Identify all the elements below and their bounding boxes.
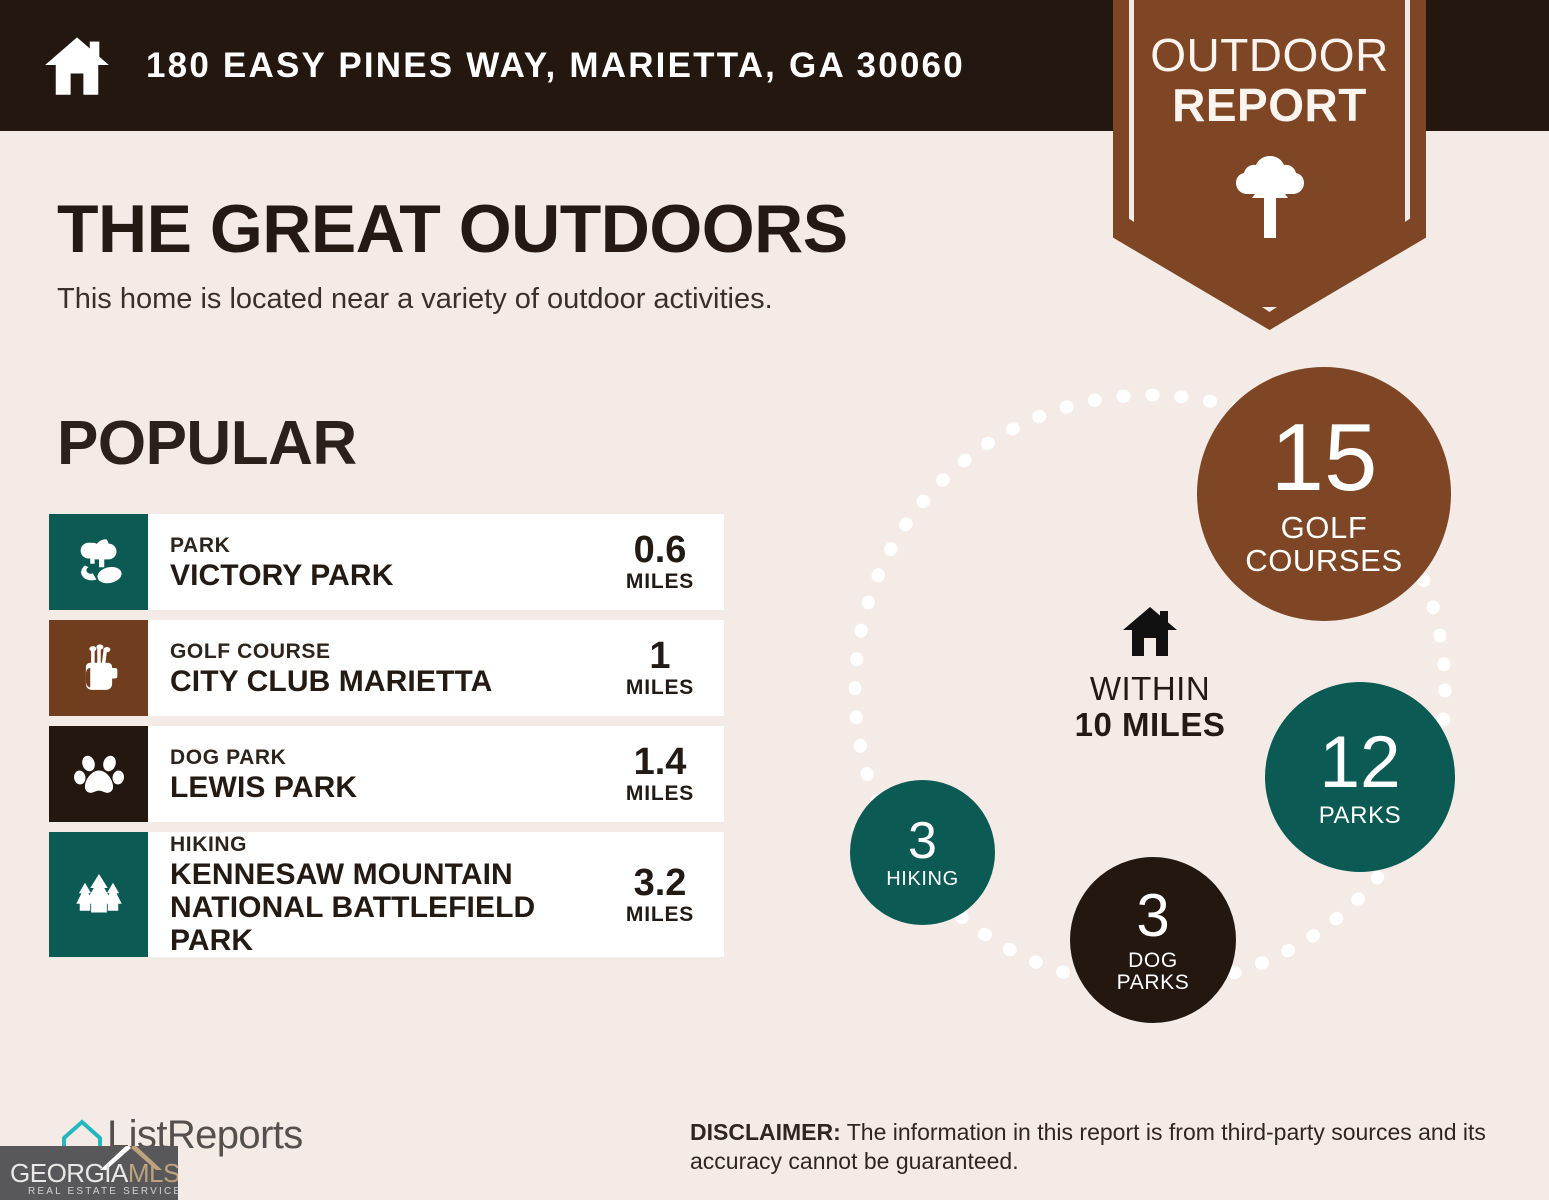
bubble-label: DOG PARKS: [1117, 950, 1190, 994]
pine-trees-icon: [71, 867, 127, 923]
gmls-mls: MLS: [128, 1158, 178, 1188]
within-10-miles-diagram: WITHIN 10 MILES 15 GOLF COURSES 12 PARKS…: [830, 355, 1490, 1035]
diagram-center-line1: WITHIN: [1010, 671, 1290, 707]
bubble-count: 3: [1136, 886, 1169, 946]
list-item-name: VICTORY PARK: [170, 559, 393, 592]
paw-print-icon-tile: [49, 726, 148, 822]
list-item-distance: 1 MILES: [614, 620, 724, 716]
home-icon: [43, 35, 111, 97]
badge-line1: OUTDOOR: [1113, 30, 1426, 80]
bubble-dog-parks[interactable]: 3 DOG PARKS: [1070, 857, 1236, 1023]
bubble-label-line2: PARKS: [1117, 972, 1190, 994]
bubble-parks[interactable]: 12 PARKS: [1265, 682, 1455, 872]
list-item-text: GOLF COURSE CITY CLUB MARIETTA: [148, 620, 614, 716]
list-item-text: PARK VICTORY PARK: [148, 514, 614, 610]
pine-trees-icon-tile: [49, 832, 148, 957]
list-item-distance: 3.2 MILES: [614, 832, 724, 957]
bubble-count: 3: [908, 815, 937, 867]
georgiamls-tagline: REAL ESTATE SERVICES: [28, 1186, 178, 1197]
outdoor-report-badge: OUTDOOR REPORT: [1113, 0, 1426, 330]
golf-bag-icon-tile: [49, 620, 148, 716]
bubble-label-line2: COURSES: [1245, 545, 1403, 578]
bubble-count: 15: [1271, 410, 1378, 506]
list-item-name: CITY CLUB MARIETTA: [170, 665, 492, 698]
distance-value: 1.4: [634, 742, 687, 782]
bubble-golf-courses[interactable]: 15 GOLF COURSES: [1197, 367, 1451, 621]
list-item-distance: 1.4 MILES: [614, 726, 724, 822]
distance-value: 3.2: [634, 863, 687, 903]
distance-unit: MILES: [626, 570, 694, 594]
popular-list: PARK VICTORY PARK 0.6 MILES: [49, 514, 724, 967]
distance-value: 0.6: [634, 530, 687, 570]
paw-print-icon: [71, 746, 127, 802]
tree-icon: [1233, 152, 1307, 240]
list-item-text: DOG PARK LEWIS PARK: [148, 726, 614, 822]
list-item-category: PARK: [170, 533, 393, 559]
badge-title: OUTDOOR REPORT: [1113, 30, 1426, 130]
list-item[interactable]: HIKING KENNESAW MOUNTAIN NATIONAL BATTLE…: [49, 832, 724, 957]
list-item-category: GOLF COURSE: [170, 639, 492, 665]
disclaimer: DISCLAIMER: The information in this repo…: [690, 1118, 1510, 1176]
bubble-hiking[interactable]: 3 HIKING: [850, 780, 995, 925]
page-title: THE GREAT OUTDOORS: [57, 190, 848, 268]
distance-unit: MILES: [626, 676, 694, 700]
diagram-center-line2: 10 MILES: [1010, 707, 1290, 743]
list-item[interactable]: GOLF COURSE CITY CLUB MARIETTA 1 MILES: [49, 620, 724, 716]
georgiamls-logo[interactable]: GEORGIAMLS REAL ESTATE SERVICES: [0, 1146, 178, 1200]
distance-unit: MILES: [626, 782, 694, 806]
park-trees-icon-tile: [49, 514, 148, 610]
bubble-label: GOLF COURSES: [1245, 512, 1403, 577]
list-item-category: DOG PARK: [170, 745, 357, 771]
georgiamls-wordmark: GEORGIAMLS: [10, 1158, 178, 1189]
property-address: 180 EASY PINES WAY, MARIETTA, GA 30060: [146, 46, 965, 86]
list-item-distance: 0.6 MILES: [614, 514, 724, 610]
list-item-text: HIKING KENNESAW MOUNTAIN NATIONAL BATTLE…: [148, 832, 614, 957]
bubble-label-line1: GOLF: [1245, 512, 1403, 545]
park-trees-icon: [71, 534, 127, 590]
bubble-label: HIKING: [886, 869, 959, 890]
distance-value: 1: [649, 636, 670, 676]
popular-heading: POPULAR: [57, 408, 357, 479]
bubble-label-line1: DOG: [1117, 950, 1190, 972]
page-subtitle: This home is located near a variety of o…: [57, 283, 773, 316]
list-item[interactable]: PARK VICTORY PARK 0.6 MILES: [49, 514, 724, 610]
bubble-label: PARKS: [1319, 803, 1402, 828]
list-item-name: LEWIS PARK: [170, 771, 357, 804]
badge-line2: REPORT: [1113, 80, 1426, 130]
home-icon: [1121, 605, 1179, 658]
diagram-center: WITHIN 10 MILES: [1010, 605, 1290, 743]
disclaimer-label: DISCLAIMER:: [690, 1119, 841, 1145]
bubble-count: 12: [1319, 726, 1400, 799]
golf-bag-icon: [71, 640, 127, 696]
distance-unit: MILES: [626, 903, 694, 927]
gmls-georgia: GEORGIA: [10, 1158, 128, 1188]
list-item[interactable]: DOG PARK LEWIS PARK 1.4 MILES: [49, 726, 724, 822]
list-item-category: HIKING: [170, 832, 604, 858]
list-item-name: KENNESAW MOUNTAIN NATIONAL BATTLEFIELD P…: [170, 858, 604, 957]
